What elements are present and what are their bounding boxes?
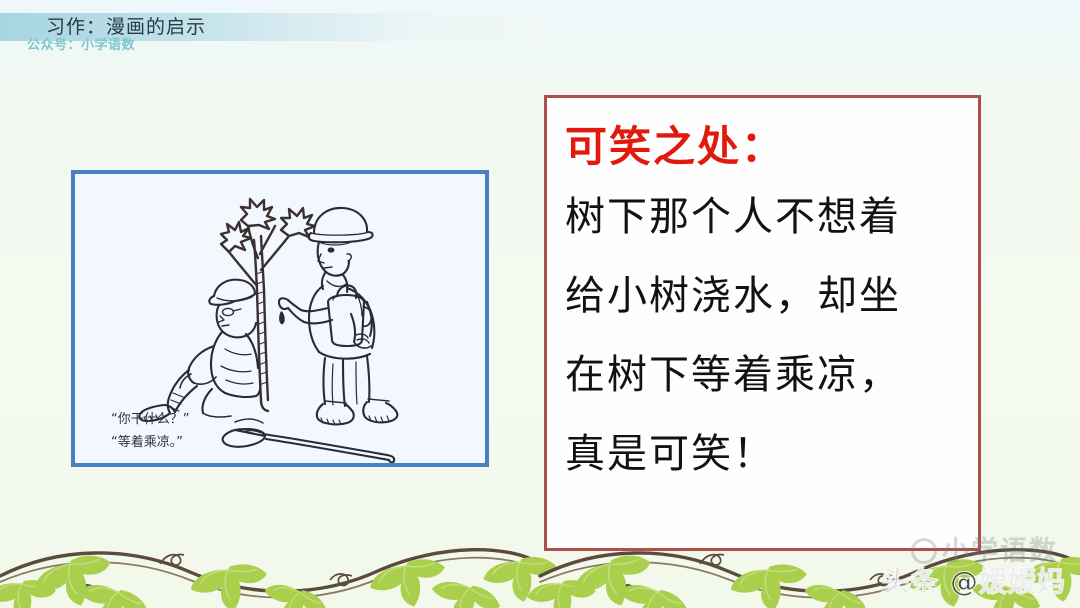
cartoon-illustration-panel: “你干什么？” “等着乘凉。” [71, 170, 489, 467]
standing-man-with-watering-can [309, 208, 398, 425]
shovel [223, 429, 395, 462]
vine-decoration [0, 522, 1080, 608]
answer-line-1: 树下那个人不想着 [565, 178, 978, 257]
answer-heading: 可笑之处： [565, 116, 978, 178]
cartoon-caption-line-1: “你干什么？” [111, 412, 189, 427]
vine-graphic [0, 522, 1080, 608]
seated-man [139, 280, 260, 421]
answer-text-box: 可笑之处： 树下那个人不想着 给小树浇水，却坐 在树下等着乘凉， 真是可笑！ [544, 95, 981, 551]
tree-sapling [221, 199, 315, 411]
cartoon-drawing: “你干什么？” “等着乘凉。” [75, 174, 485, 463]
answer-line-2: 给小树浇水，却坐 [565, 257, 978, 336]
page-title: 习作：漫画的启示 [46, 14, 206, 40]
cartoon-caption-line-2: “等着乘凉。” [111, 434, 183, 450]
answer-line-3: 在树下等着乘凉， [565, 336, 978, 415]
publisher-subtitle: 公众号：小学语数 [27, 38, 135, 54]
answer-line-4: 真是可笑！ [565, 415, 978, 494]
slide-canvas: 习作：漫画的启示 公众号：小学语数 [0, 0, 1080, 608]
